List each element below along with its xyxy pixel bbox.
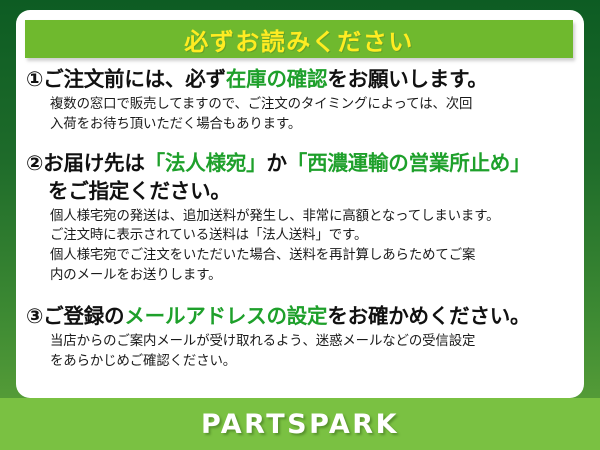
notice-item-1-body: 複数の窓口で販売してますので、ご注文のタイミングによっては、次回 入荷をお待ち頂… <box>50 95 576 134</box>
notice-item-2-heading-part-1: ②お届け先は <box>26 151 145 175</box>
notice-item-1-heading-part-3: をお願いします。 <box>327 67 487 91</box>
footer-bar: PARTSPARK <box>0 398 600 450</box>
notice-item-2-body: 個人様宅宛の発送は、追加送料が発生し、非常に高額となってしまいます。 ご注文時に… <box>50 207 576 285</box>
notice-item-3-heading-part-3: をお確かめください。 <box>327 304 530 328</box>
notice-item-3-heading-part-1: ③ご登録の <box>26 304 124 328</box>
notice-items-list: ①ご注文前には、必ず在庫の確認をお願いします。 複数の窓口で販売してますので、ご… <box>16 66 584 372</box>
notice-card: 必ずお読みください ①ご注文前には、必ず在庫の確認をお願いします。 複数の窓口で… <box>16 10 584 398</box>
notice-item-2-heading-accent-1: 「法人様宛」 <box>145 151 267 175</box>
notice-item-3-body: 当店からのご案内メールが受け取れるよう、迷惑メールなどの受信設定 をあらかじめご… <box>50 332 576 371</box>
notice-item-3-heading-accent: メールアドレスの設定 <box>124 304 327 328</box>
page-title: 必ずお読みください <box>184 22 414 57</box>
notice-item-2-heading-part-3: か <box>266 151 286 175</box>
notice-item-3: ③ご登録のメールアドレスの設定をお確かめください。 当店からのご案内メールが受け… <box>16 303 584 371</box>
notice-item-2: ②お届け先は「法人様宛」か「西濃運輸の営業所止め」をご指定ください。 個人様宅宛… <box>16 150 584 285</box>
notice-item-2-heading: ②お届け先は「法人様宛」か「西濃運輸の営業所止め」をご指定ください。 <box>26 150 576 205</box>
notice-item-1-heading: ①ご注文前には、必ず在庫の確認をお願いします。 <box>26 66 576 93</box>
notice-item-3-heading: ③ご登録のメールアドレスの設定をお確かめください。 <box>26 303 576 330</box>
brand-logo-text: PARTSPARK <box>201 409 399 440</box>
header-banner: 必ずお読みください <box>25 20 573 58</box>
notice-item-2-heading-part-5: をご指定ください。 <box>48 178 576 205</box>
notice-item-1-heading-part-1: ①ご注文前には、必ず <box>26 67 226 91</box>
notice-frame: 必ずお読みください ①ご注文前には、必ず在庫の確認をお願いします。 複数の窓口で… <box>0 0 600 450</box>
notice-item-1-heading-accent: 在庫の確認 <box>226 67 328 91</box>
notice-item-2-heading-accent-2: 「西濃運輸の営業所止め」 <box>287 151 531 175</box>
notice-item-1: ①ご注文前には、必ず在庫の確認をお願いします。 複数の窓口で販売してますので、ご… <box>16 66 584 134</box>
